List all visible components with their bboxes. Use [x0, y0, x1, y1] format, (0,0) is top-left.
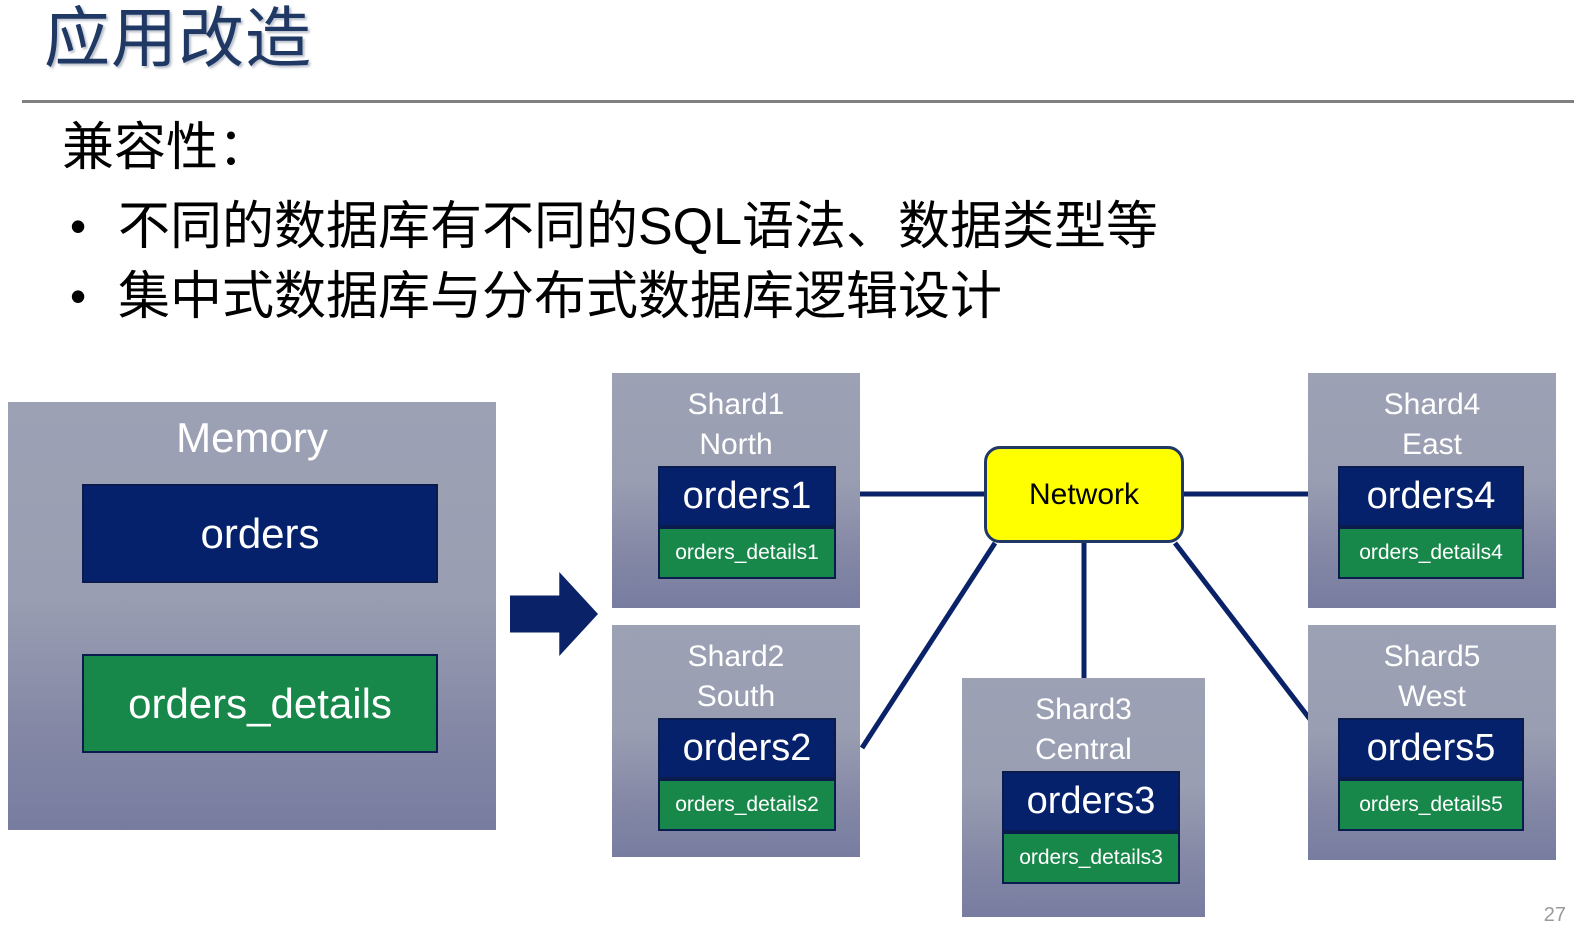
shard2-title: Shard2 South: [612, 637, 860, 717]
memory-panel: Memory orders orders_details: [8, 402, 496, 830]
shard1-title: Shard1 North: [612, 385, 860, 465]
table-box-orders5: orders5: [1338, 718, 1524, 779]
shard5-title: Shard5 West: [1308, 637, 1556, 717]
shard-panel-shard3: Shard3 Central orders3 orders_details3: [962, 678, 1205, 917]
memory-panel-title: Memory: [8, 414, 496, 462]
table-box-orders-details3: orders_details3: [1002, 832, 1180, 884]
shard3-title: Shard3 Central: [962, 690, 1205, 770]
table-box-orders: orders: [82, 484, 438, 583]
table-box-orders-details: orders_details: [82, 654, 438, 753]
table-box-orders-details1: orders_details1: [658, 527, 836, 579]
table-box-orders-details5: orders_details5: [1338, 779, 1524, 831]
shard-panel-shard2: Shard2 South orders2 orders_details2: [612, 625, 860, 857]
table-box-orders1: orders1: [658, 466, 836, 527]
table-box-orders2: orders2: [658, 718, 836, 779]
right-arrow-icon: [510, 572, 598, 656]
shard4-title: Shard4 East: [1308, 385, 1556, 465]
shard-panel-shard5: Shard5 West orders5 orders_details5: [1308, 625, 1556, 860]
architecture-diagram: Memory orders orders_details Shard1 Nort…: [0, 0, 1594, 939]
page-number: 27: [1544, 904, 1566, 927]
table-box-orders3: orders3: [1002, 771, 1180, 832]
table-box-orders4: orders4: [1338, 466, 1524, 527]
shard-panel-shard1: Shard1 North orders1 orders_details1: [612, 373, 860, 608]
shard-panel-shard4: Shard4 East orders4 orders_details4: [1308, 373, 1556, 608]
network-node: Network: [984, 446, 1184, 543]
table-box-orders-details4: orders_details4: [1338, 527, 1524, 579]
table-box-orders-details2: orders_details2: [658, 779, 836, 831]
